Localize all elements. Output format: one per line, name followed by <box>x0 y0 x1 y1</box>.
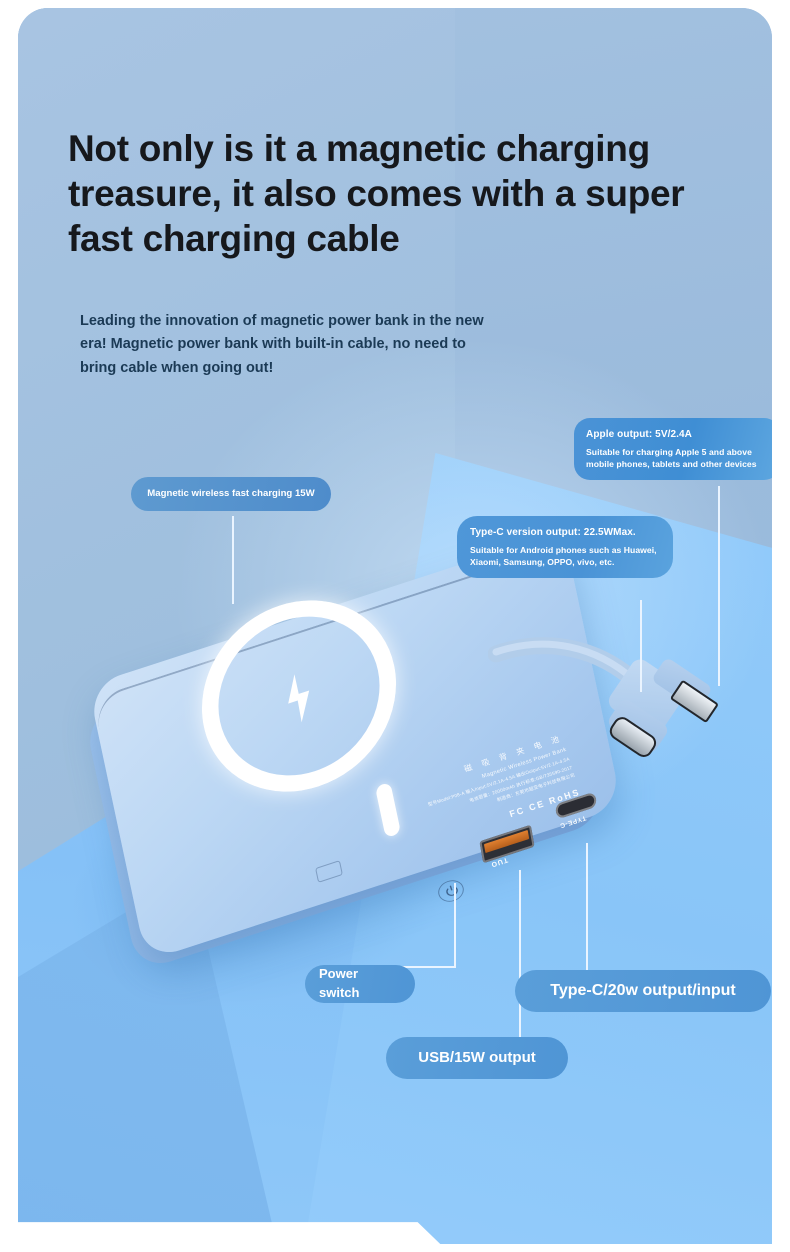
callout-usb-output: USB/15W output <box>386 1037 568 1079</box>
leader-line-typec <box>640 600 642 692</box>
callout-power-switch: Power switch <box>305 965 415 1003</box>
leader-line-typec20w <box>586 843 588 971</box>
leader-line-magnetic <box>232 516 234 604</box>
builtin-cable <box>488 618 748 798</box>
callout-typec-version: Type-C version output: 22.5WMax. Suitabl… <box>457 516 673 578</box>
page-subtitle: Leading the innovation of magnetic power… <box>80 310 500 380</box>
callout-apple-desc: Suitable for charging Apple 5 and above … <box>586 446 768 471</box>
callout-apple-title: Apple output: 5V/2.4A <box>586 428 768 443</box>
callout-typec-desc: Suitable for Android phones such as Huaw… <box>470 544 660 569</box>
product-banner-card: Not only is it a magnetic charging treas… <box>18 8 772 1244</box>
callout-apple-output: Apple output: 5V/2.4A Suitable for charg… <box>574 418 772 480</box>
callout-magnetic-wireless: Magnetic wireless fast charging 15W <box>131 477 331 511</box>
leader-line-usb <box>519 870 521 1040</box>
page-title: Not only is it a magnetic charging treas… <box>68 126 688 261</box>
callout-typec-20w: Type-C/20w output/input <box>515 970 771 1012</box>
leader-line-power-vertical <box>454 883 456 968</box>
leader-line-apple <box>718 486 720 686</box>
callout-typec-title: Type-C version output: 22.5WMax. <box>470 526 660 541</box>
